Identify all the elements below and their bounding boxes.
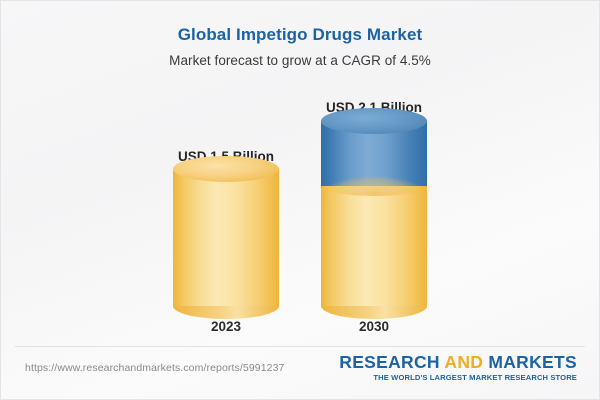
brand-word-and: AND [444,352,488,372]
cylinder-bar-2030[interactable] [321,121,427,306]
bar-segment-base-2030 [321,186,427,306]
cylinder-body [321,186,427,306]
bar-segment-growth-2030 [321,121,427,186]
bar-segment-base-2023 [173,169,279,306]
cylinder-bar-2023[interactable] [173,169,279,306]
brand-wordmark: RESEARCH AND MARKETS [339,353,577,371]
brand-word-research: RESEARCH [339,352,444,372]
category-label-2030: 2030 [359,319,389,334]
footer-divider [15,346,585,347]
bar-group-2023: USD 1.5 Billion 2023 [173,1,279,346]
source-url-link[interactable]: https://www.researchandmarkets.com/repor… [25,362,284,374]
cylinder-top-cap [173,156,279,182]
cylinder-body [173,169,279,306]
plot-area: USD 1.5 Billion 2023 USD 2.1 Billion [1,1,600,346]
brand-word-markets: MARKETS [488,352,577,372]
bar-group-2030: USD 2.1 Billion 2030 [321,1,427,346]
brand-logo[interactable]: RESEARCH AND MARKETS THE WORLD'S LARGEST… [339,353,577,382]
category-label-2023: 2023 [211,319,241,334]
brand-tagline: THE WORLD'S LARGEST MARKET RESEARCH STOR… [339,373,577,382]
chart-canvas: Global Impetigo Drugs Market Market fore… [0,0,600,400]
cylinder-top-cap [321,108,427,134]
